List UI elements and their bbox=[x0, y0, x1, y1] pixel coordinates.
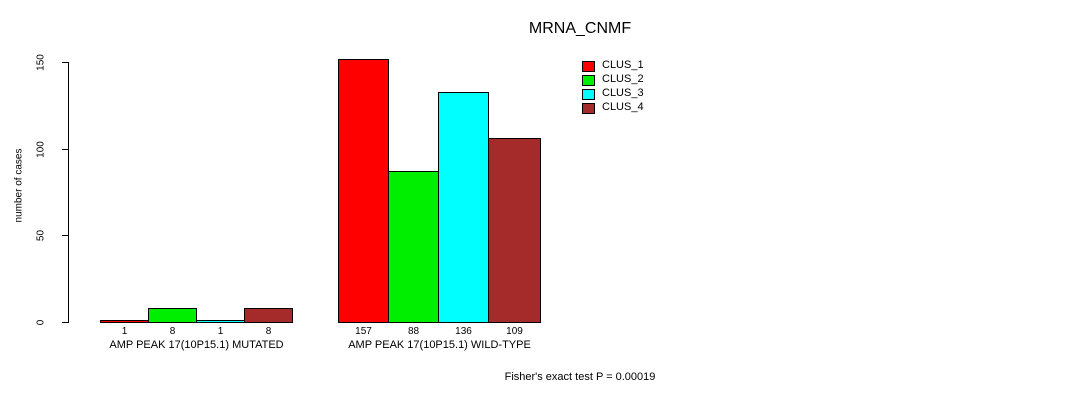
legend-label-clus-1: CLUS_1 bbox=[602, 59, 644, 71]
bar-value-wildtype-clus-1: 157 bbox=[338, 326, 389, 337]
statistical-test-annotation: Fisher's exact test P = 0.00019 bbox=[380, 371, 780, 383]
y-axis-line bbox=[68, 62, 69, 323]
y-tick-50 bbox=[62, 235, 69, 236]
bar-wildtype-clus-1[interactable] bbox=[338, 59, 389, 323]
bar-value-wildtype-clus-4: 109 bbox=[488, 326, 541, 337]
legend-swatch-clus-1-icon bbox=[582, 61, 595, 72]
bar-value-mutated-clus-3: 1 bbox=[196, 326, 245, 337]
y-tick-label-0: 0 bbox=[36, 306, 47, 340]
legend-label-clus-2: CLUS_2 bbox=[602, 73, 644, 85]
bar-wildtype-clus-2[interactable] bbox=[388, 171, 439, 323]
chart-canvas: MRNA_CNMF 0 50 100 150 number of cases 1… bbox=[0, 0, 1090, 400]
y-axis-title: number of cases bbox=[14, 126, 25, 246]
y-tick-label-50: 50 bbox=[36, 219, 47, 253]
legend-label-clus-4: CLUS_4 bbox=[602, 101, 644, 113]
legend-label-clus-3: CLUS_3 bbox=[602, 87, 644, 99]
group-label-wildtype: AMP PEAK 17(10P15.1) WILD-TYPE bbox=[323, 339, 556, 351]
bar-value-mutated-clus-4: 8 bbox=[244, 326, 293, 337]
bar-mutated-clus-4[interactable] bbox=[244, 308, 293, 323]
y-tick-label-150: 150 bbox=[36, 46, 47, 80]
bar-wildtype-clus-4[interactable] bbox=[488, 138, 541, 323]
y-tick-150 bbox=[62, 62, 69, 63]
legend-swatch-clus-2-icon bbox=[582, 75, 595, 86]
bar-value-wildtype-clus-3: 136 bbox=[438, 326, 489, 337]
group-label-mutated: AMP PEAK 17(10P15.1) MUTATED bbox=[80, 339, 313, 351]
bar-mutated-clus-3[interactable] bbox=[196, 320, 245, 323]
bar-mutated-clus-2[interactable] bbox=[148, 308, 197, 323]
legend-swatch-clus-3-icon bbox=[582, 89, 595, 100]
y-tick-100 bbox=[62, 149, 69, 150]
plot-area: 0 50 100 150 number of cases 1 8 1 8 AMP… bbox=[0, 0, 1090, 400]
legend-swatch-clus-4-icon bbox=[582, 103, 595, 114]
bar-value-mutated-clus-2: 8 bbox=[148, 326, 197, 337]
y-tick-label-100: 100 bbox=[36, 133, 47, 167]
bar-mutated-clus-1[interactable] bbox=[100, 320, 149, 323]
bar-wildtype-clus-3[interactable] bbox=[438, 92, 489, 323]
bar-value-mutated-clus-1: 1 bbox=[100, 326, 149, 337]
y-tick-0 bbox=[62, 322, 69, 323]
bar-value-wildtype-clus-2: 88 bbox=[388, 326, 439, 337]
